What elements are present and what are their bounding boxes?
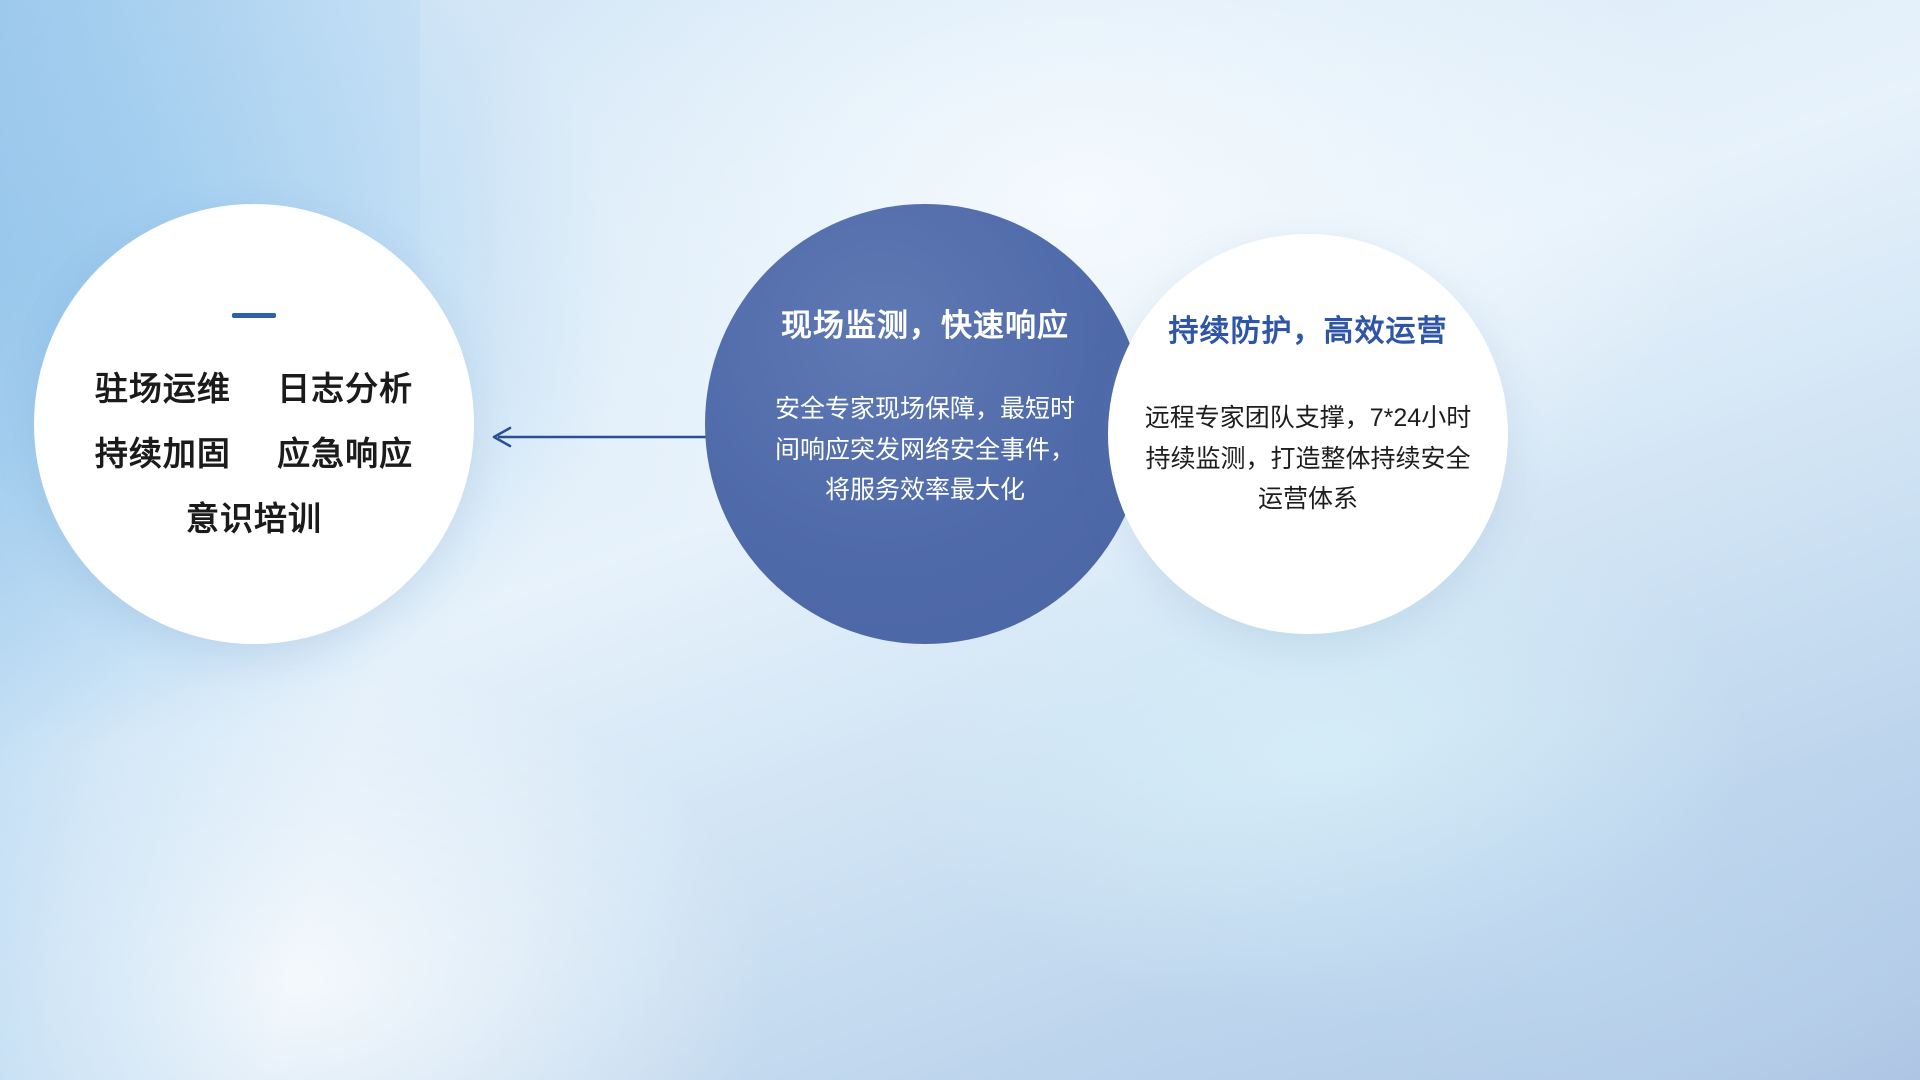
- keyword-emergency-response: 应急响应: [277, 435, 413, 472]
- middle-highlight-circle: 现场监测，快速响应 安全专家现场保障，最短时间响应突发网络安全事件，将服务效率最…: [705, 204, 1145, 644]
- right-circle-title: 持续防护，高效运营: [1169, 306, 1448, 350]
- connector-arrow-left-icon: [484, 424, 726, 450]
- keyword-driver-ops: 驻场运维: [95, 370, 231, 407]
- slide-canvas: 驻场运维 日志分析 持续加固 应急响应 意识培训 现场监测，快速响应 安全专家现…: [0, 0, 1920, 1080]
- keyword-continuous-hardening: 持续加固: [95, 435, 231, 472]
- keyword-row-2: 持续加固 应急响应: [95, 437, 413, 470]
- middle-circle-body: 安全专家现场保障，最短时间响应突发网络安全事件，将服务效率最大化: [770, 389, 1080, 511]
- keyword-row-3: 意识培训: [186, 502, 322, 535]
- left-keyword-circle: 驻场运维 日志分析 持续加固 应急响应 意识培训: [34, 204, 474, 644]
- right-info-circle: 持续防护，高效运营 远程专家团队支撑，7*24小时持续监测，打造整体持续安全运营…: [1108, 234, 1508, 634]
- divider-dash: [232, 313, 276, 318]
- right-circle-body: 远程专家团队支撑，7*24小时持续监测，打造整体持续安全运营体系: [1135, 398, 1481, 520]
- keyword-log-analysis: 日志分析: [277, 370, 413, 407]
- middle-circle-title: 现场监测，快速响应: [781, 300, 1069, 345]
- keyword-row-1: 驻场运维 日志分析: [95, 372, 413, 405]
- keyword-awareness-training: 意识培训: [186, 500, 322, 537]
